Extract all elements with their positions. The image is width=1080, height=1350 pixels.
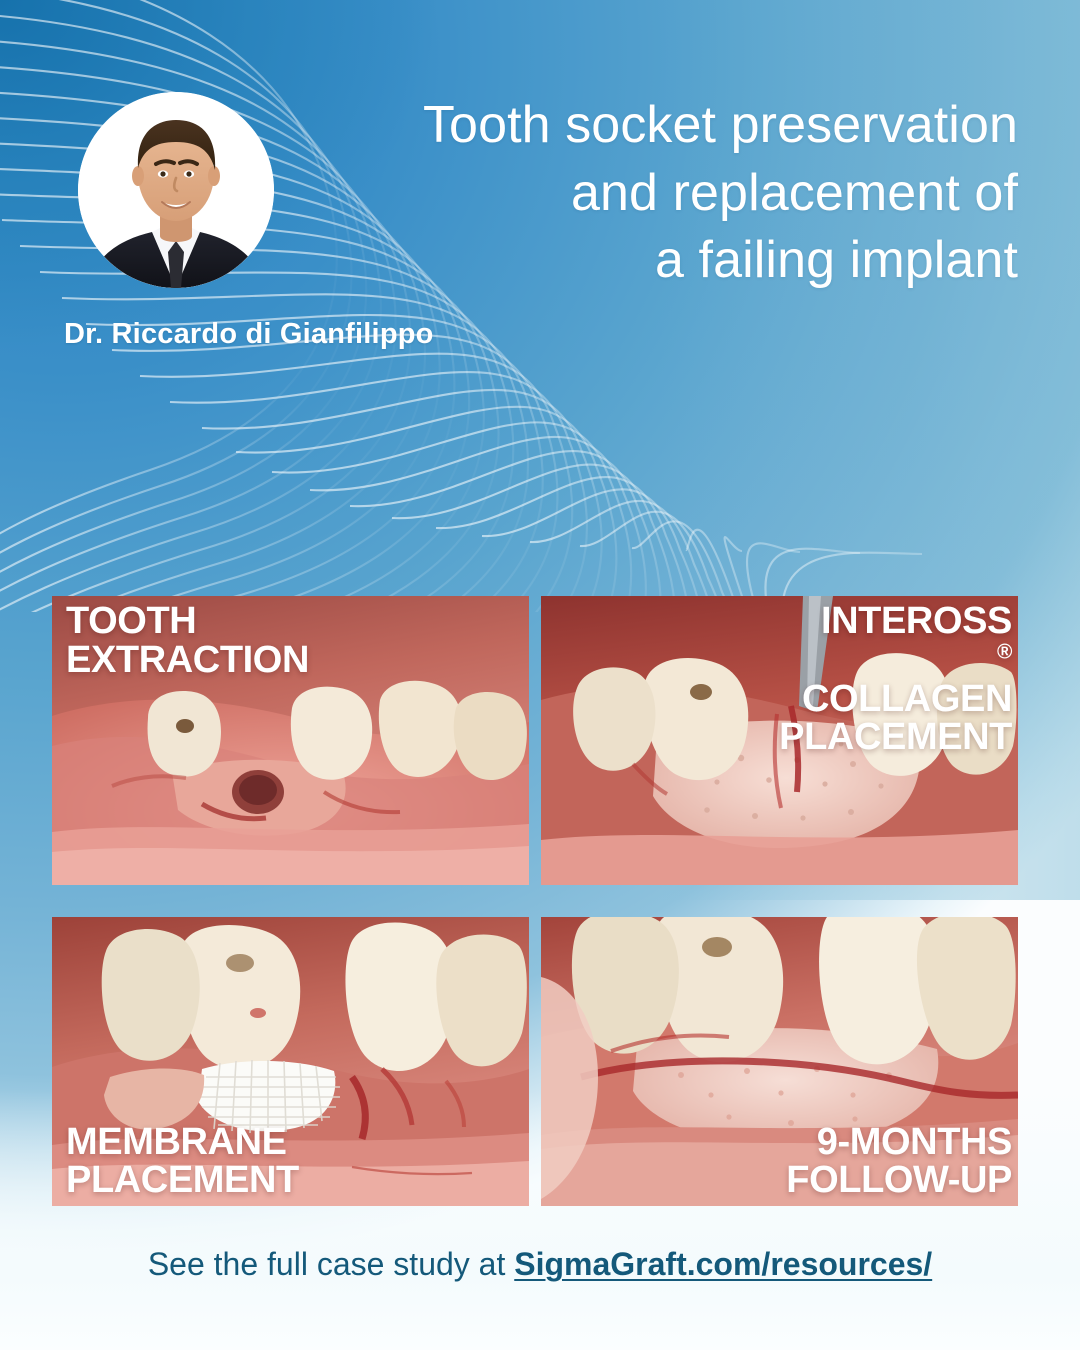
doctor-portrait-avatar — [78, 92, 274, 288]
gallery-panel-inteross-collagen-placement[interactable]: INTEROSS® COLLAGEN PLACEMENT — [541, 596, 1018, 885]
gallery-panel-9-months-follow-up[interactable]: 9-MONTHS FOLLOW-UP — [541, 917, 1018, 1206]
avatar — [78, 92, 274, 288]
clinical-photo-inteross-collagen-placement — [541, 596, 1018, 885]
clinical-photo-tooth-extraction — [52, 596, 529, 885]
sigmagraft-resources-link[interactable]: SigmaGraft.com/resources/ — [514, 1246, 932, 1282]
clinical-photo-gallery: TOOTH EXTRACTION — [52, 596, 1018, 1206]
clinical-photo-membrane-placement — [52, 917, 529, 1206]
footer-lead-text: See the full case study at — [148, 1246, 514, 1282]
clinical-photo-9-months-follow-up — [541, 917, 1018, 1206]
doctor-name: Dr. Riccardo di Gianfilippo — [64, 318, 434, 351]
poster-root: Dr. Riccardo di Gianfilippo Tooth socket… — [0, 0, 1080, 1350]
gallery-panel-membrane-placement[interactable]: MEMBRANE PLACEMENT — [52, 917, 529, 1206]
page-title-line-2: and replacement of — [358, 160, 1018, 228]
page-title-line-3: a failing implant — [358, 227, 1018, 295]
footer: See the full case study at SigmaGraft.co… — [0, 1246, 1080, 1283]
gallery-panel-tooth-extraction[interactable]: TOOTH EXTRACTION — [52, 596, 529, 885]
page-title: Tooth socket preservation and replacemen… — [358, 92, 1018, 295]
page-title-line-1: Tooth socket preservation — [358, 92, 1018, 160]
